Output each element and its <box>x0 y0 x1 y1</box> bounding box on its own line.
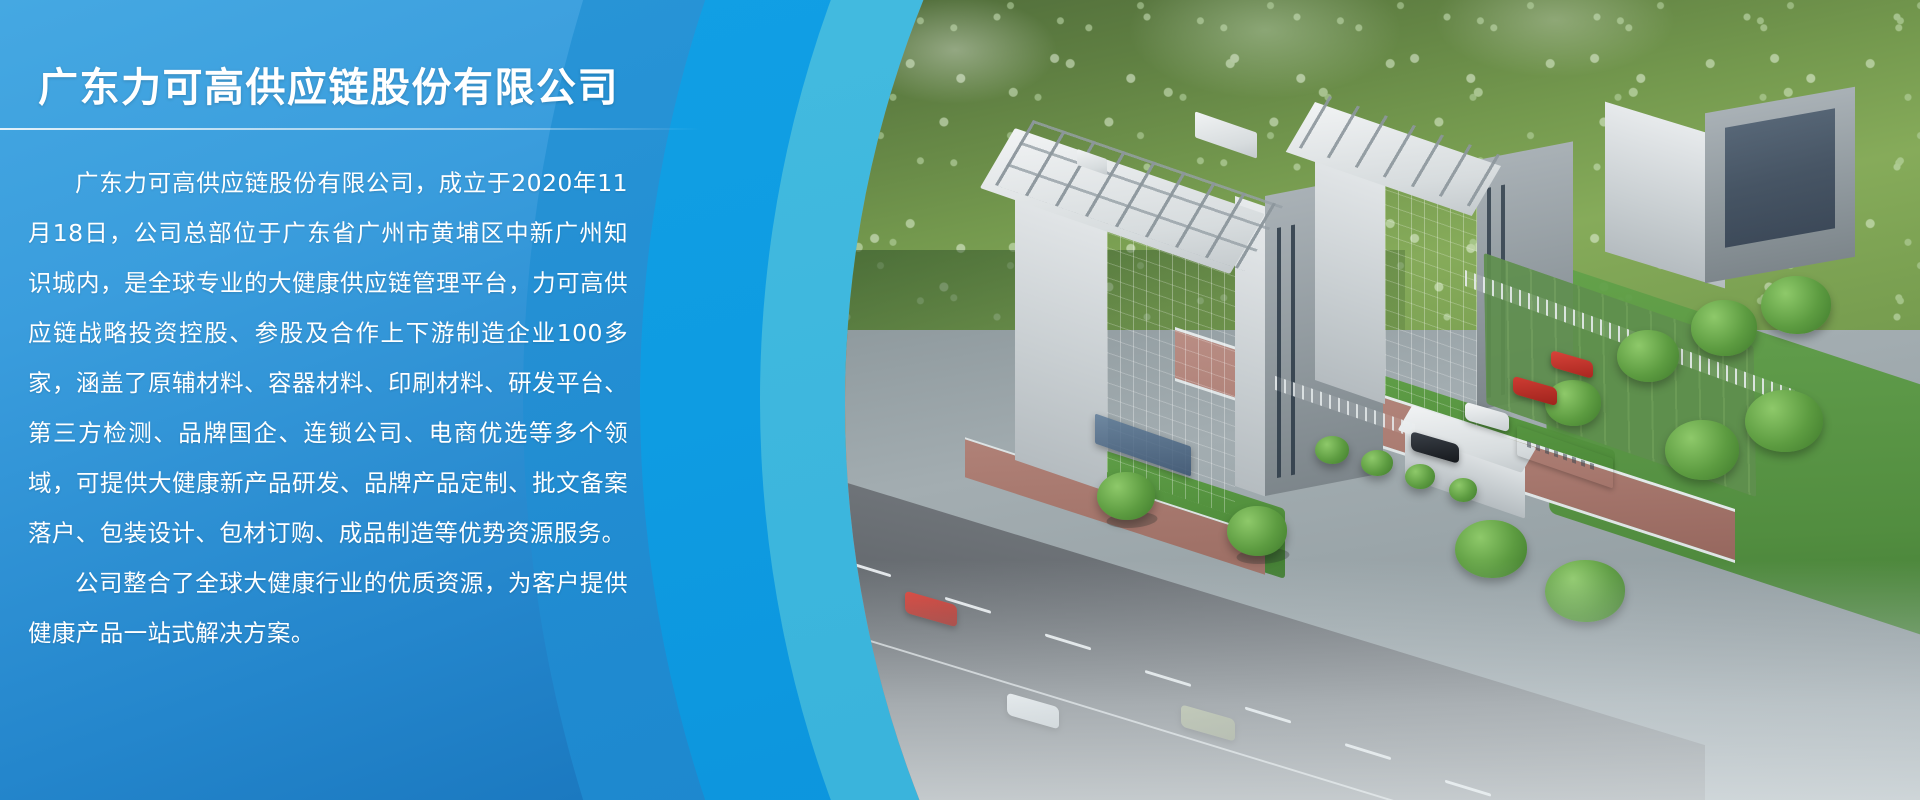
tree <box>1227 506 1287 556</box>
tree <box>1097 472 1155 520</box>
tower-slot-windows <box>1277 223 1303 478</box>
tree <box>1665 420 1739 480</box>
shrub <box>1361 450 1393 476</box>
aerial-render-photo <box>845 0 1920 800</box>
circular-photo-mask <box>845 0 1920 800</box>
banner-stage: 广东力可高供应链股份有限公司 广东力可高供应链股份有限公司，成立于2020年11… <box>0 0 1920 800</box>
tree <box>1691 300 1757 356</box>
tree <box>1761 276 1831 334</box>
page-title: 广东力可高供应链股份有限公司 <box>38 55 619 113</box>
photo-haze <box>845 560 1920 800</box>
office-tower <box>1015 120 1345 480</box>
intro-paragraph-1: 广东力可高供应链股份有限公司，成立于2020年11月18日，公司总部位于广东省广… <box>28 158 628 558</box>
company-intro-copy: 广东力可高供应链股份有限公司，成立于2020年11月18日，公司总部位于广东省广… <box>28 158 628 658</box>
shrub <box>1449 478 1477 502</box>
title-divider <box>0 128 700 130</box>
shrub <box>1315 436 1349 464</box>
intro-text-panel: 广东力可高供应链股份有限公司 广东力可高供应链股份有限公司，成立于2020年11… <box>0 0 760 800</box>
shrub <box>1405 464 1435 489</box>
intro-paragraph-2: 公司整合了全球大健康行业的优质资源，为客户提供健康产品一站式解决方案。 <box>28 558 628 658</box>
tree <box>1745 390 1823 452</box>
background-block-glass <box>1725 108 1835 247</box>
tree <box>1617 330 1679 382</box>
